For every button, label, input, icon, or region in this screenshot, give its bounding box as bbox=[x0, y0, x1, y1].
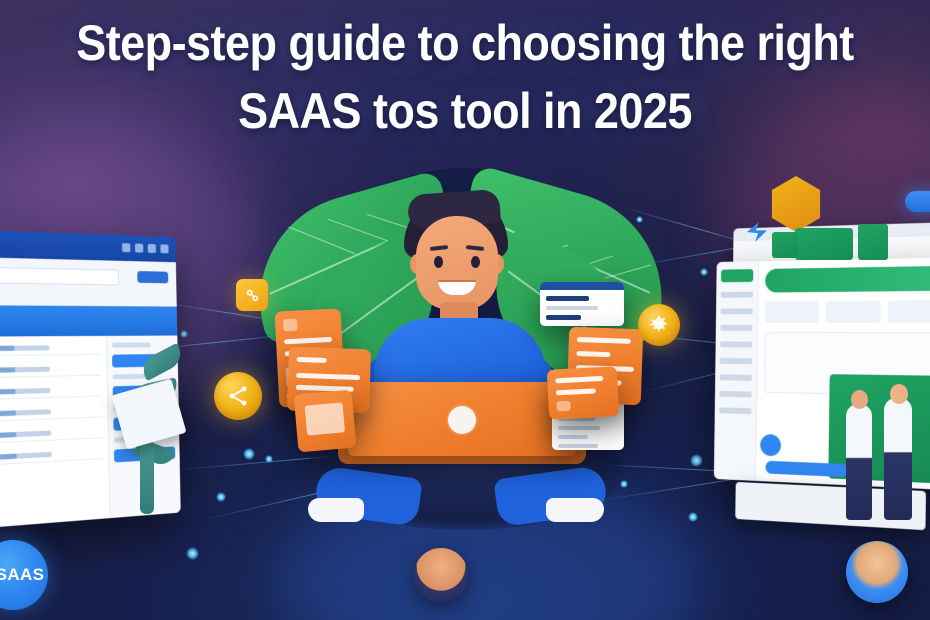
network-node bbox=[688, 512, 698, 522]
gear-icon bbox=[648, 314, 670, 336]
network-node bbox=[243, 448, 255, 460]
table-row bbox=[0, 447, 103, 465]
figure-shoe-right bbox=[546, 498, 604, 522]
window-mockup bbox=[540, 282, 624, 326]
sidebar-item bbox=[719, 407, 751, 414]
table-row bbox=[0, 385, 102, 400]
gold-square-settings bbox=[236, 279, 268, 311]
sidepanel-label bbox=[112, 342, 150, 347]
stat-card bbox=[765, 301, 819, 323]
left-dashboard-table bbox=[0, 336, 110, 528]
share-nodes-icon bbox=[226, 384, 250, 408]
sliders-icon bbox=[244, 287, 261, 304]
green-card bbox=[772, 232, 798, 258]
avatar-center bbox=[414, 548, 468, 602]
window-text-line bbox=[558, 444, 598, 448]
gold-hex-person-icon bbox=[768, 176, 824, 232]
network-node bbox=[636, 216, 643, 223]
floating-card bbox=[294, 390, 357, 453]
network-node bbox=[180, 330, 188, 338]
left-dashboard-toolbar-icons bbox=[122, 243, 169, 253]
figure-head bbox=[416, 216, 498, 310]
sidebar-item bbox=[720, 358, 752, 364]
page-title: Step-step guide to choosing the right SA… bbox=[0, 14, 930, 140]
left-dashboard-section-header bbox=[0, 305, 177, 336]
window-text-line bbox=[546, 315, 581, 320]
window-text-line bbox=[546, 306, 598, 310]
headline-line-1: Step-step guide to choosing the right bbox=[47, 14, 884, 72]
toolbar-icon bbox=[148, 244, 156, 253]
sidebar-item bbox=[720, 391, 752, 398]
left-dashboard-titlebar bbox=[0, 230, 176, 262]
figure-eye-left bbox=[434, 256, 443, 268]
table-row bbox=[0, 405, 102, 421]
person-figure-right bbox=[884, 398, 912, 520]
stat-card bbox=[825, 301, 881, 323]
sidebar-item bbox=[721, 308, 753, 314]
gold-badge-gear bbox=[638, 304, 680, 346]
figure-brow-left bbox=[430, 245, 448, 251]
table-row bbox=[0, 364, 101, 378]
sidebar-item bbox=[720, 341, 752, 347]
green-card bbox=[795, 228, 853, 260]
plant-stem bbox=[140, 440, 154, 514]
sidebar-item bbox=[721, 292, 753, 298]
stat-card bbox=[888, 300, 930, 323]
network-node bbox=[216, 492, 226, 502]
window-text-line bbox=[558, 435, 588, 439]
sidebar-item bbox=[720, 325, 752, 331]
top-right-cta-button[interactable] bbox=[905, 191, 930, 212]
window-text-line bbox=[546, 296, 589, 301]
laptop-logo-icon bbox=[448, 406, 476, 434]
left-dashboard-search-input bbox=[0, 267, 119, 286]
network-node bbox=[690, 454, 703, 467]
toolbar-icon bbox=[135, 244, 143, 253]
green-card bbox=[858, 224, 888, 260]
window-body bbox=[540, 290, 624, 326]
avatar-right bbox=[846, 541, 908, 603]
person-head-right bbox=[890, 384, 908, 404]
left-dashboard-primary-button bbox=[137, 271, 168, 283]
network-node bbox=[186, 547, 199, 560]
window-titlebar bbox=[540, 282, 624, 290]
saas-brand-label: SAAS bbox=[0, 565, 44, 585]
network-node bbox=[265, 455, 273, 463]
right-dashboard-stats bbox=[765, 300, 930, 323]
gold-badge-network bbox=[214, 372, 262, 420]
figure-brow-right bbox=[466, 245, 484, 251]
saas-brand-badge: SAAS bbox=[0, 540, 48, 610]
window-text-line bbox=[558, 426, 600, 430]
floating-card bbox=[547, 366, 620, 420]
headline-line-2: SAAS tos tool in 2025 bbox=[47, 82, 884, 140]
figure-shoe-left bbox=[308, 498, 364, 522]
person-figure-right-2 bbox=[846, 404, 872, 520]
right-dashboard-banner bbox=[765, 266, 930, 293]
table-row bbox=[0, 426, 102, 443]
person-head-right-2 bbox=[851, 390, 868, 409]
toolbar-icon bbox=[122, 243, 131, 252]
sidebar-logo bbox=[721, 269, 753, 282]
table-row bbox=[0, 343, 101, 356]
hero-banner: Step-step guide to choosing the right SA… bbox=[0, 0, 930, 620]
right-dashboard-sidebar bbox=[714, 261, 759, 481]
toolbar-icon bbox=[160, 244, 168, 253]
figure-eye-right bbox=[471, 256, 480, 268]
sidebar-item bbox=[720, 374, 752, 380]
